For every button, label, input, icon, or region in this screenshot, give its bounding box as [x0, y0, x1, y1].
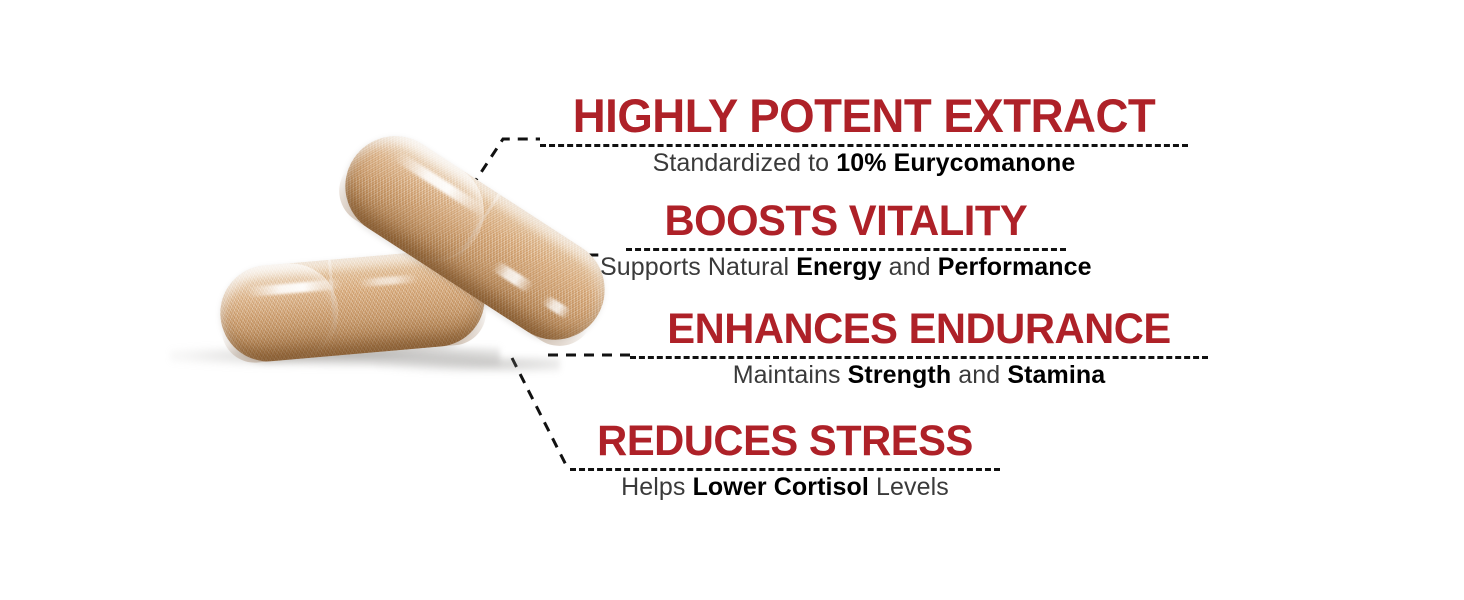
- callout-subline: Maintains Strength and Stamina: [630, 361, 1208, 390]
- callout-highly-potent-extract: HIGHLY POTENT EXTRACT Standardized to 10…: [540, 92, 1188, 178]
- capsule-shadow-secondary: [375, 356, 560, 374]
- callout-headline: ENHANCES ENDURANCE: [639, 308, 1200, 351]
- callout-headline: HIGHLY POTENT EXTRACT: [550, 92, 1179, 139]
- callout-dashed-rule: [540, 144, 1188, 147]
- callout-enhances-endurance: ENHANCES ENDURANCE Maintains Strength an…: [630, 308, 1208, 390]
- capsules-photo: [150, 150, 570, 440]
- callout-reduces-stress: REDUCES STRESS Helps Lower Cortisol Leve…: [570, 420, 1000, 502]
- callout-headline: BOOSTS VITALITY: [607, 200, 1084, 243]
- callout-headline: REDUCES STRESS: [576, 420, 993, 463]
- callout-dashed-rule: [630, 356, 1208, 359]
- callout-dashed-rule: [570, 468, 1000, 471]
- callout-subline: Standardized to 10% Eurycomanone: [540, 149, 1188, 178]
- product-benefits-infographic: HIGHLY POTENT EXTRACT Standardized to 10…: [0, 0, 1464, 600]
- callout-boosts-vitality: BOOSTS VITALITY Supports Natural Energy …: [600, 200, 1092, 282]
- callout-subline: Supports Natural Energy and Performance: [600, 253, 1092, 282]
- capsule-highlight: [358, 274, 418, 287]
- callout-dashed-rule: [626, 248, 1066, 251]
- callout-subline: Helps Lower Cortisol Levels: [570, 473, 1000, 502]
